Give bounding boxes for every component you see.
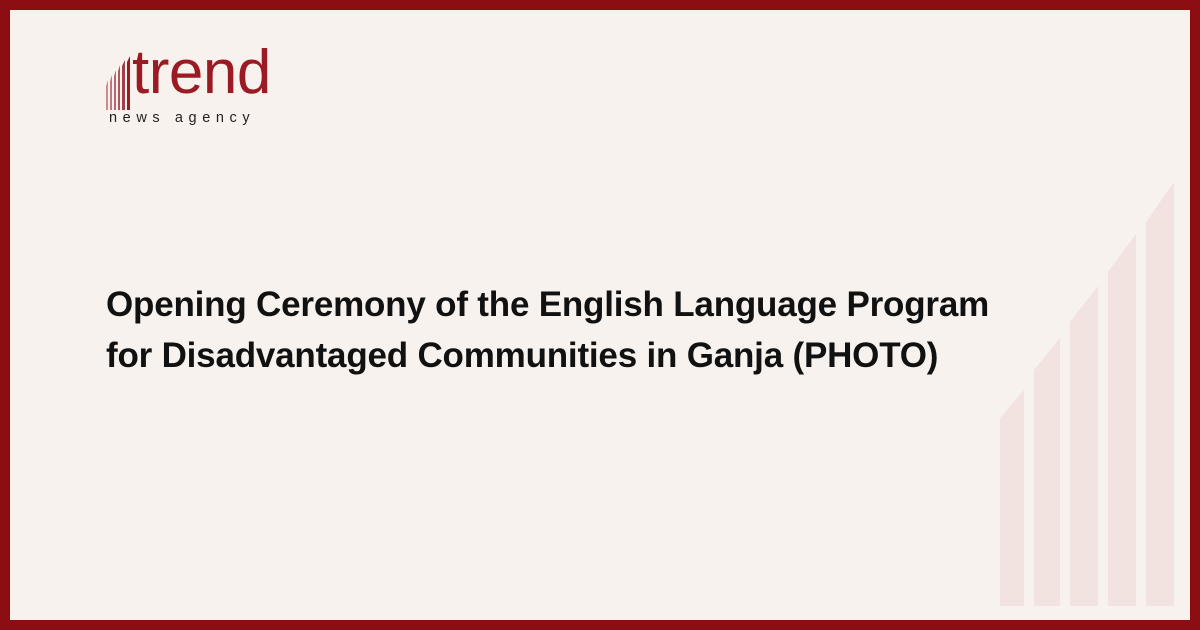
page-title: Opening Ceremony of the English Language…: [106, 280, 1066, 382]
logo-tagline: news agency: [109, 110, 255, 126]
trend-news-agency-logo[interactable]: trend news agency: [106, 52, 366, 142]
decorative-bar: [1108, 234, 1136, 606]
logo-mark-bar: [110, 75, 112, 110]
logo-mark-bar: [122, 60, 125, 110]
logo-mark-bar: [118, 65, 120, 110]
share-card: trend news agency Opening Ceremony of th…: [0, 0, 1200, 630]
decorative-bar: [1146, 182, 1174, 606]
card-canvas: trend news agency Opening Ceremony of th…: [10, 10, 1190, 620]
decorative-bar-graphic: [1000, 170, 1190, 606]
decorative-bar: [1070, 286, 1098, 606]
logo-mark-bar: [114, 70, 116, 110]
logo-mark-bar: [106, 80, 108, 110]
logo-wordmark: trend: [132, 42, 271, 104]
logo-mark-bar: [127, 56, 130, 110]
decorative-bar: [1000, 390, 1024, 606]
